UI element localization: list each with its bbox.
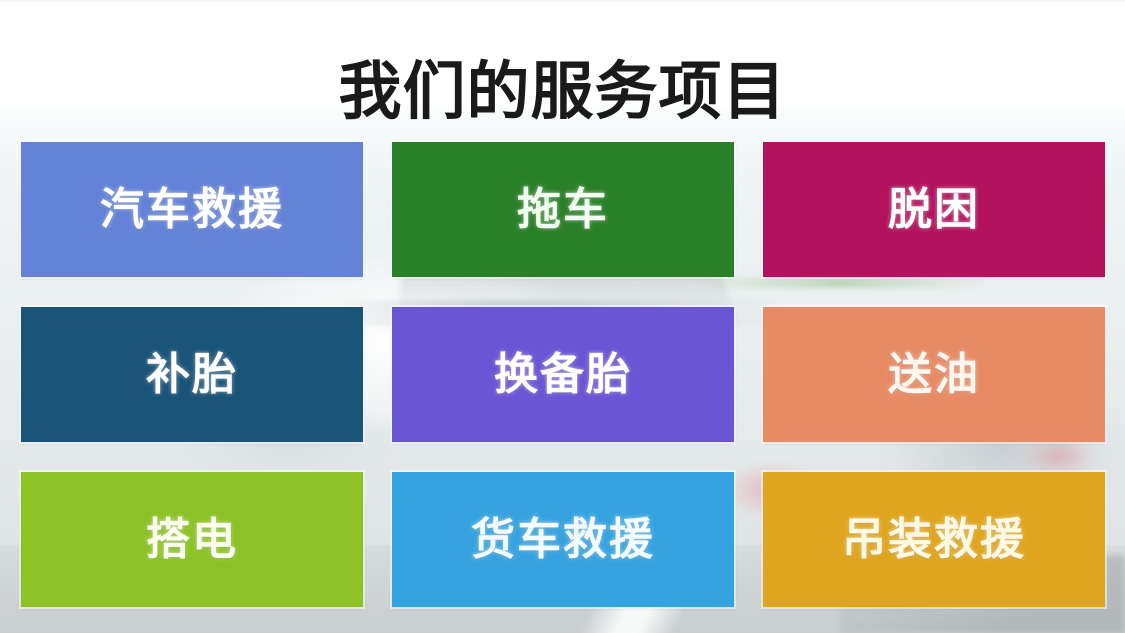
service-tile-huanbeitai[interactable]: 换备胎 [392, 307, 734, 442]
service-tile-label: 吊装救援 [842, 518, 1026, 562]
page-title-wrap: 我们的服务项目 [0, 18, 1125, 167]
service-poster: 我们的服务项目 汽车救援 拖车 脱困 补胎 换备胎 送油 搭电 货车救援 吊装救… [0, 0, 1125, 633]
service-tile-label: 送油 [888, 353, 980, 397]
service-tile-label: 汽车救援 [100, 188, 284, 232]
page-title: 我们的服务项目 [339, 60, 787, 124]
service-tile-diaozhuangjiuyuan[interactable]: 吊装救援 [763, 472, 1105, 607]
service-tile-label: 搭电 [146, 518, 238, 562]
service-tile-label: 脱困 [888, 188, 980, 232]
service-tile-label: 换备胎 [494, 353, 632, 397]
service-tile-label: 拖车 [517, 188, 609, 232]
service-tile-butai[interactable]: 补胎 [21, 307, 363, 442]
service-grid: 汽车救援 拖车 脱困 补胎 换备胎 送油 搭电 货车救援 吊装救援 [21, 142, 1106, 607]
service-tile-huochejiuyuan[interactable]: 货车救援 [392, 472, 734, 607]
service-tile-dadian[interactable]: 搭电 [21, 472, 363, 607]
background-top-edge [0, 0, 1125, 3]
service-tile-label: 补胎 [146, 353, 238, 397]
service-tile-label: 货车救援 [471, 518, 655, 562]
service-tile-songyou[interactable]: 送油 [763, 307, 1105, 442]
